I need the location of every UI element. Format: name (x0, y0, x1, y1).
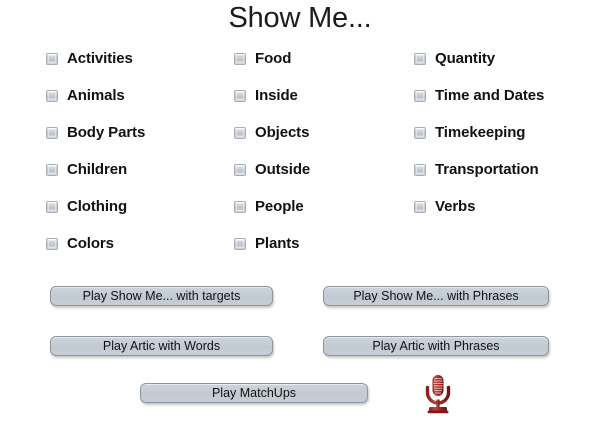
checkbox-unchecked-icon[interactable] (234, 201, 246, 213)
category-label: Children (67, 161, 127, 179)
checkbox-unchecked-icon[interactable] (414, 164, 426, 176)
checkbox-unchecked-icon[interactable] (46, 53, 58, 65)
category-label: Inside (255, 87, 298, 105)
category-item-outside[interactable]: Outside (234, 151, 409, 188)
checkbox-unchecked-icon[interactable] (234, 127, 246, 139)
category-item-objects[interactable]: Objects (234, 114, 409, 151)
checkbox-unchecked-icon[interactable] (234, 238, 246, 250)
category-column-3: Quantity Time and Dates Timekeeping Tran… (414, 40, 594, 225)
category-item-animals[interactable]: Animals (46, 77, 226, 114)
checkbox-unchecked-icon[interactable] (234, 164, 246, 176)
checkbox-unchecked-icon[interactable] (46, 127, 58, 139)
checkbox-unchecked-icon[interactable] (46, 164, 58, 176)
category-label: Objects (255, 124, 309, 142)
category-item-activities[interactable]: Activities (46, 40, 226, 77)
play-artic-with-words-button[interactable]: Play Artic with Words (50, 336, 273, 356)
checkbox-unchecked-icon[interactable] (46, 238, 58, 250)
category-item-clothing[interactable]: Clothing (46, 188, 226, 225)
play-matchups-button[interactable]: Play MatchUps (140, 383, 368, 403)
category-column-2: Food Inside Objects Outside People Plant… (234, 40, 409, 262)
category-item-plants[interactable]: Plants (234, 225, 409, 262)
show-me-screen: Show Me... Activities Animals Body Parts… (0, 0, 600, 430)
category-item-colors[interactable]: Colors (46, 225, 226, 262)
category-label: Time and Dates (435, 87, 544, 105)
category-item-time-and-dates[interactable]: Time and Dates (414, 77, 594, 114)
category-label: People (255, 198, 304, 216)
page-title: Show Me... (0, 1, 600, 35)
checkbox-unchecked-icon[interactable] (414, 127, 426, 139)
category-label: Clothing (67, 198, 127, 216)
checkbox-unchecked-icon[interactable] (46, 201, 58, 213)
category-grid: Activities Animals Body Parts Children C… (0, 40, 600, 255)
checkbox-unchecked-icon[interactable] (414, 90, 426, 102)
checkbox-unchecked-icon[interactable] (46, 90, 58, 102)
checkbox-unchecked-icon[interactable] (414, 53, 426, 65)
category-item-verbs[interactable]: Verbs (414, 188, 594, 225)
category-item-transportation[interactable]: Transportation (414, 151, 594, 188)
category-item-people[interactable]: People (234, 188, 409, 225)
category-label: Quantity (435, 50, 495, 68)
play-artic-with-phrases-button[interactable]: Play Artic with Phrases (323, 336, 549, 356)
category-item-children[interactable]: Children (46, 151, 226, 188)
checkbox-unchecked-icon[interactable] (234, 53, 246, 65)
category-label: Animals (67, 87, 125, 105)
play-show-me-with-phrases-button[interactable]: Play Show Me... with Phrases (323, 286, 549, 306)
category-item-quantity[interactable]: Quantity (414, 40, 594, 77)
play-show-me-with-targets-button[interactable]: Play Show Me... with targets (50, 286, 273, 306)
category-label: Outside (255, 161, 310, 179)
category-item-food[interactable]: Food (234, 40, 409, 77)
category-label: Food (255, 50, 291, 68)
category-item-inside[interactable]: Inside (234, 77, 409, 114)
category-label: Timekeeping (435, 124, 525, 142)
category-column-1: Activities Animals Body Parts Children C… (46, 40, 226, 262)
category-label: Activities (67, 50, 133, 68)
checkbox-unchecked-icon[interactable] (414, 201, 426, 213)
microphone-icon[interactable] (420, 373, 456, 415)
category-label: Body Parts (67, 124, 145, 142)
category-label: Transportation (435, 161, 539, 179)
category-label: Plants (255, 235, 299, 253)
checkbox-unchecked-icon[interactable] (234, 90, 246, 102)
category-label: Colors (67, 235, 114, 253)
category-item-timekeeping[interactable]: Timekeeping (414, 114, 594, 151)
category-item-body-parts[interactable]: Body Parts (46, 114, 226, 151)
category-label: Verbs (435, 198, 475, 216)
